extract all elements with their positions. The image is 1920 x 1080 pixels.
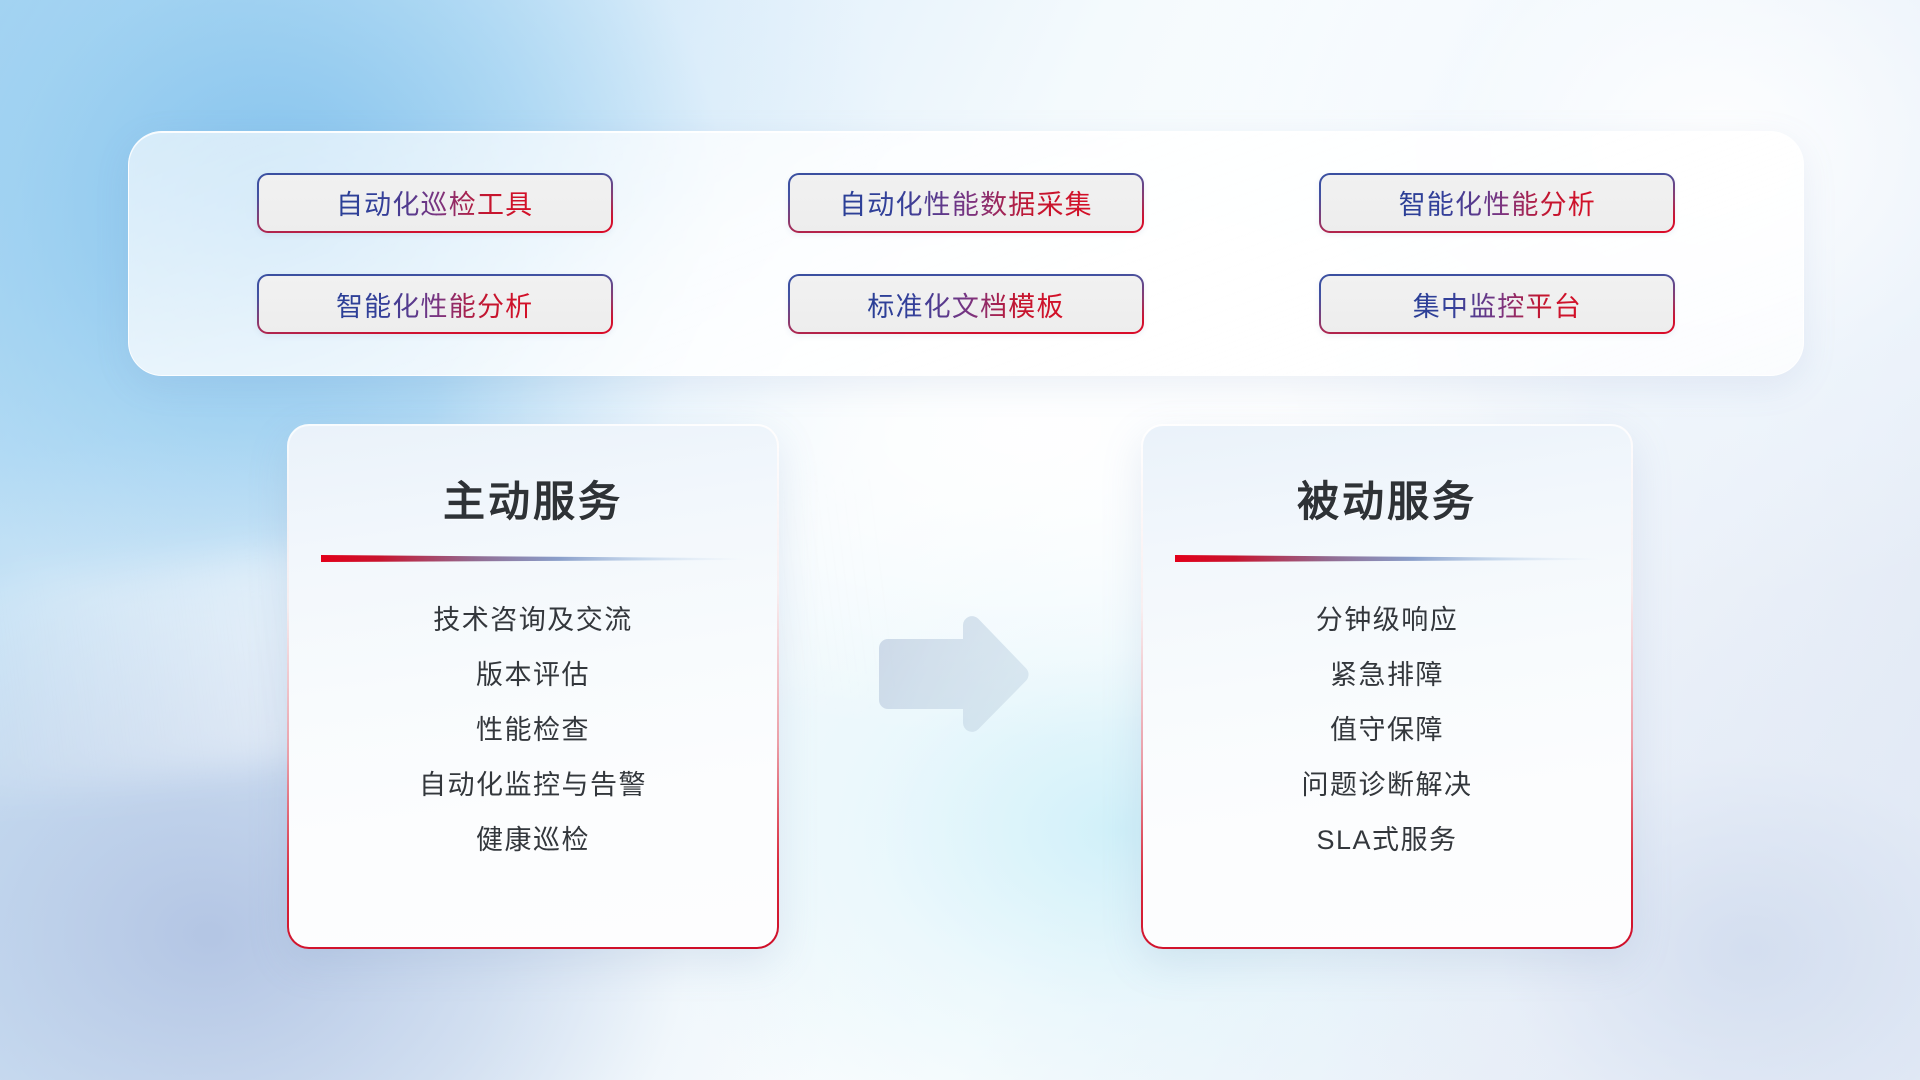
capability-pill-surface: 自动化巡检工具 xyxy=(259,175,611,231)
capability-pill-surface: 智能化性能分析 xyxy=(259,276,611,332)
right-arrow-icon xyxy=(875,612,1035,736)
capability-pill-label: 集中监控平台 xyxy=(1413,285,1582,324)
service-card-passive-service[interactable]: 被动服务 xyxy=(1141,424,1633,949)
title-divider-gradient-bar xyxy=(1175,553,1599,563)
capability-pill-central-monitor-platform[interactable]: 集中监控平台 xyxy=(1319,274,1675,334)
service-list-item: 分钟级响应 xyxy=(1316,593,1459,648)
title-divider-gradient-bar xyxy=(321,553,745,563)
service-card-active-service[interactable]: 主动服务 xyxy=(287,424,779,949)
service-list-item: 紧急排障 xyxy=(1330,648,1444,703)
service-list-item: SLA式服务 xyxy=(1316,813,1457,868)
service-list-item: 性能检查 xyxy=(476,703,590,758)
service-list-item: 问题诊断解决 xyxy=(1302,758,1473,813)
service-card-item-list: 分钟级响应 紧急排障 值守保障 问题诊断解决 SLA式服务 xyxy=(1177,593,1597,868)
service-list-item: 技术咨询及交流 xyxy=(433,593,633,648)
service-list-item: 版本评估 xyxy=(476,648,590,703)
service-card-title: 被动服务 xyxy=(1297,468,1477,529)
capability-pill-auto-perf-collection[interactable]: 自动化性能数据采集 xyxy=(788,173,1144,233)
service-list-item: 自动化监控与告警 xyxy=(419,758,647,813)
capability-pill-surface: 自动化性能数据采集 xyxy=(790,175,1142,231)
service-card-item-list: 技术咨询及交流 版本评估 性能检查 自动化监控与告警 健康巡检 xyxy=(323,593,743,868)
diagram-stage: 自动化巡检工具 自动化性能数据采集 智能化性能分析 智能化性能分析 xyxy=(0,0,1920,1080)
capabilities-grid: 自动化巡检工具 自动化性能数据采集 智能化性能分析 智能化性能分析 xyxy=(129,132,1803,375)
service-card-surface: 被动服务 xyxy=(1143,426,1631,947)
capability-pill-standard-doc-template[interactable]: 标准化文档模板 xyxy=(788,274,1144,334)
service-list-item: 值守保障 xyxy=(1330,703,1444,758)
capability-pill-surface: 集中监控平台 xyxy=(1321,276,1673,332)
capabilities-panel: 自动化巡检工具 自动化性能数据采集 智能化性能分析 智能化性能分析 xyxy=(128,131,1804,376)
capability-pill-smart-perf-analysis-b[interactable]: 智能化性能分析 xyxy=(257,274,613,334)
capability-pill-label: 标准化文档模板 xyxy=(867,285,1064,324)
service-card-title: 主动服务 xyxy=(443,468,623,529)
capability-pill-surface: 标准化文档模板 xyxy=(790,276,1142,332)
capability-pill-label: 自动化性能数据采集 xyxy=(839,183,1093,222)
capability-pill-label: 自动化巡检工具 xyxy=(336,183,533,222)
capability-pill-auto-inspection-tool[interactable]: 自动化巡检工具 xyxy=(257,173,613,233)
service-card-surface: 主动服务 xyxy=(289,426,777,947)
capability-pill-label: 智能化性能分析 xyxy=(336,285,533,324)
capability-pill-label: 智能化性能分析 xyxy=(1399,183,1596,222)
service-list-item: 健康巡检 xyxy=(476,813,590,868)
capability-pill-surface: 智能化性能分析 xyxy=(1321,175,1673,231)
capability-pill-smart-perf-analysis-a[interactable]: 智能化性能分析 xyxy=(1319,173,1675,233)
